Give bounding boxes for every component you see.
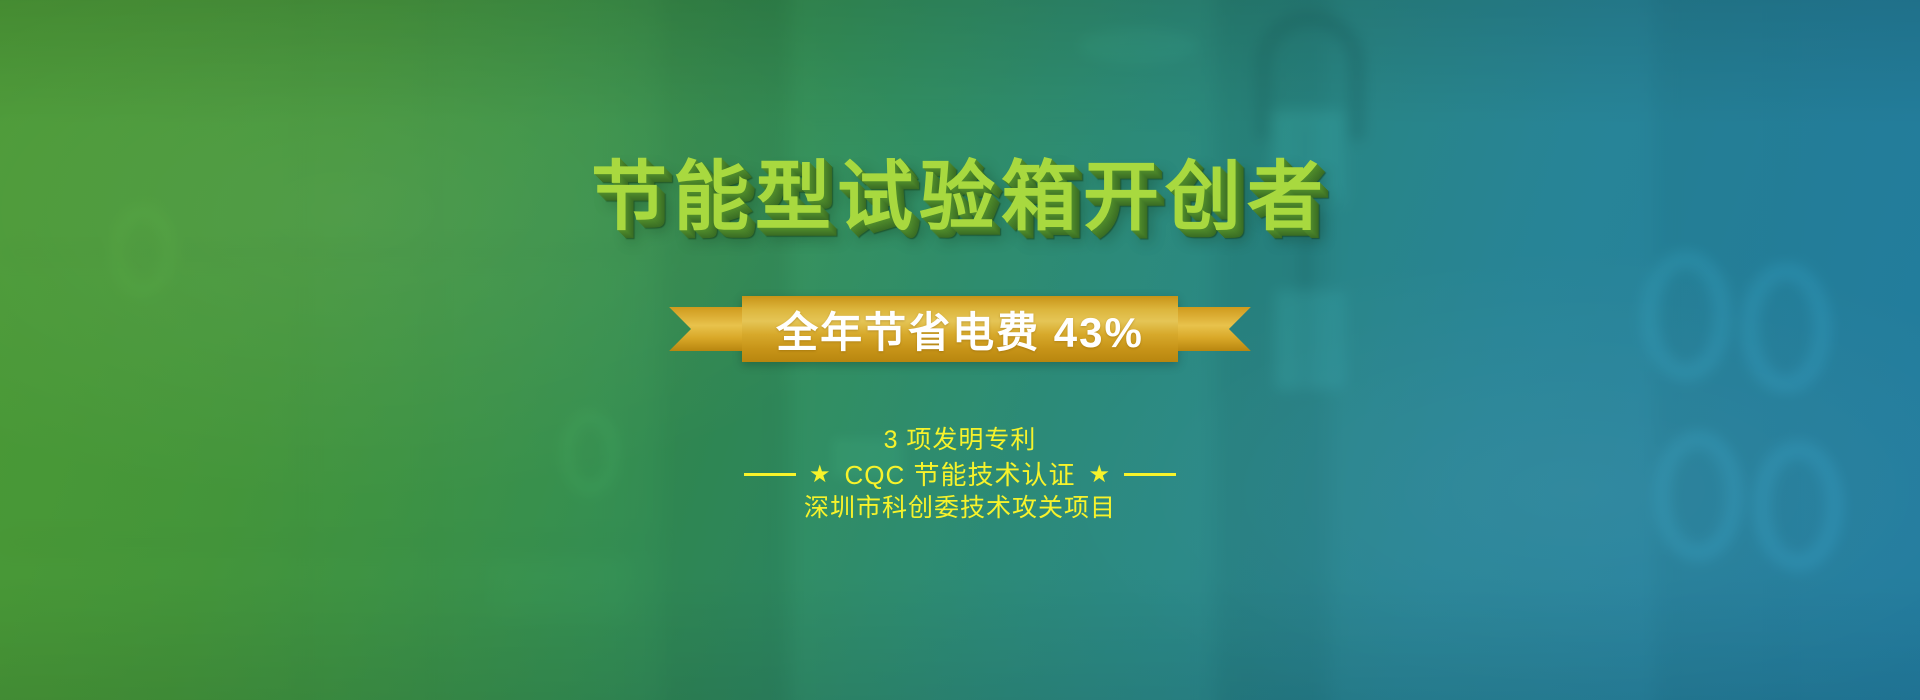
credential-certification: ★ CQC 节能技术认证 ★ [744,458,1176,493]
credential-patents: 3 项发明专利 [884,424,1037,458]
star-icon-left: ★ [809,463,832,487]
star-icon-right: ★ [1089,463,1112,487]
page-title: 节能型试验箱开创者 [591,160,1329,236]
ribbon-label: 全年节省电费 43% [776,299,1144,360]
hero-banner: 节能型试验箱开创者 全年节省电费 43% 3 项发明专利 ★ CQC 节能技术认… [0,0,1920,700]
divider-line-left [744,473,796,476]
credentials-block: 3 项发明专利 ★ CQC 节能技术认证 ★ 深圳市科创委技术攻关项目 [744,424,1176,526]
savings-ribbon: 全年节省电费 43% [669,296,1251,362]
ribbon-tail-left [669,307,742,351]
ribbon-tail-right [1178,307,1251,351]
credential-project: 深圳市科创委技术攻关项目 [804,492,1116,526]
certification-label: CQC 节能技术认证 [844,458,1075,493]
banner-content: 节能型试验箱开创者 全年节省电费 43% 3 项发明专利 ★ CQC 节能技术认… [0,0,1920,700]
ribbon-body: 全年节省电费 43% [742,296,1178,362]
divider-line-right [1124,473,1176,476]
